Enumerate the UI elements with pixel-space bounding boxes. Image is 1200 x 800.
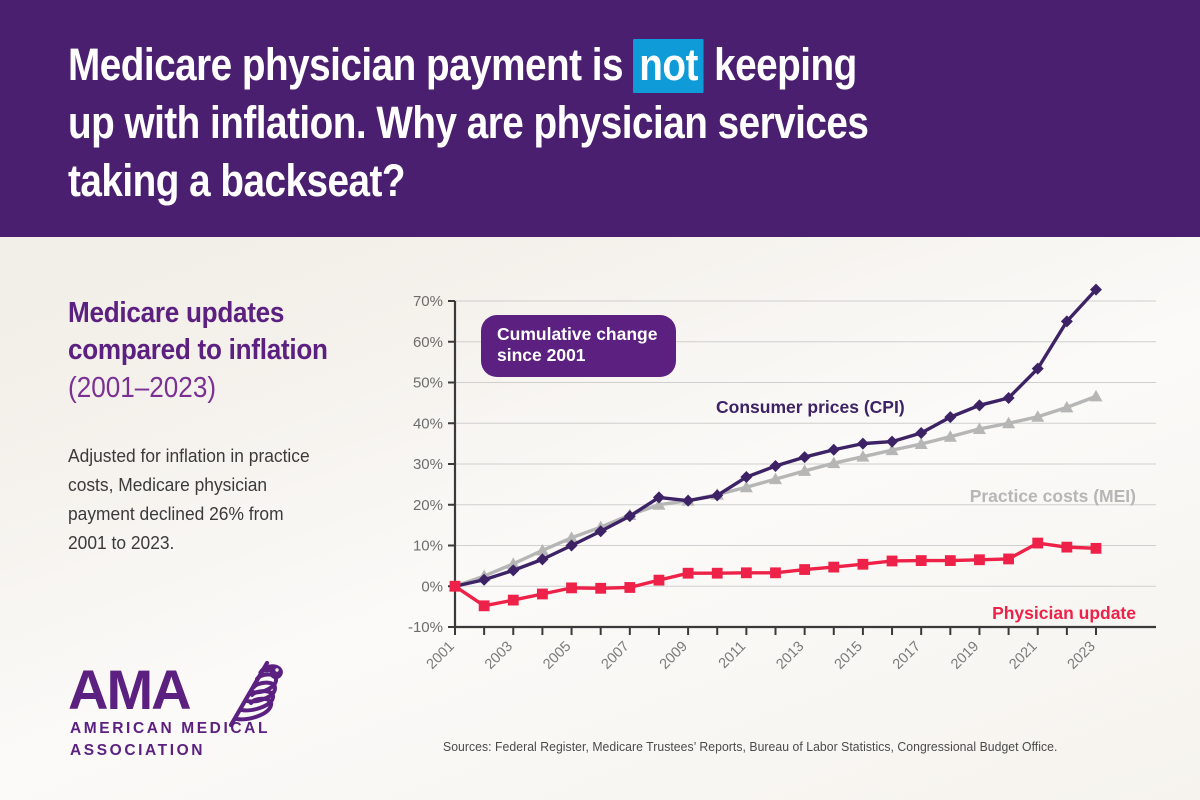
y-tick-label: 70% (413, 293, 443, 310)
series-label-physician-update: Physician update (992, 603, 1136, 623)
headline-line-1-post: keeping (704, 39, 857, 90)
x-tick-label: 2023 (1065, 639, 1099, 673)
data-point-marker (624, 582, 635, 593)
data-point-marker (537, 589, 548, 600)
chart-container: -10%0%10%20%30%40%50%60%70% 200120032005… (396, 270, 1186, 690)
left-column: Medicare updates compared to inflation (… (68, 295, 368, 557)
y-tick-label: 40% (413, 415, 443, 432)
data-point-marker (1090, 390, 1103, 401)
data-point-marker (712, 568, 723, 579)
line-chart: -10%0%10%20%30%40%50%60%70% 200120032005… (396, 270, 1186, 690)
data-point-marker (828, 562, 839, 573)
data-point-marker (508, 595, 519, 606)
y-tick-label: 50% (413, 375, 443, 392)
y-axis-ticks: -10%0%10%20%30%40%50%60%70% (408, 293, 455, 636)
y-tick-label: 0% (421, 578, 443, 595)
x-tick-label: 2003 (482, 639, 516, 673)
callout-badge: Cumulative change since 2001 (481, 315, 676, 377)
asclepius-staff-icon (211, 657, 291, 729)
callout-line-1: Cumulative change (497, 324, 658, 344)
data-point-marker (858, 559, 869, 570)
series-label-practice-costs-mei: Practice costs (MEI) (970, 486, 1136, 506)
chart-description: Adjusted for inflation in practice costs… (68, 441, 322, 557)
data-point-marker (799, 451, 811, 463)
data-point-marker (886, 436, 898, 448)
data-point-marker (595, 583, 606, 594)
ama-logo-line-2: ASSOCIATION (70, 742, 205, 760)
headline-line-2: up with inflation. Why are physician ser… (68, 94, 990, 152)
data-point-marker (654, 575, 665, 586)
x-tick-label: 2019 (948, 639, 982, 673)
x-tick-label: 2007 (599, 639, 633, 673)
data-point-marker (916, 555, 927, 566)
x-tick-label: 2001 (424, 639, 458, 673)
x-axis-ticks: 2001200320052007200920112013201520172019… (424, 627, 1099, 673)
x-tick-label: 2015 (832, 639, 866, 673)
data-point-marker (857, 438, 869, 450)
data-point-marker (566, 582, 577, 593)
x-tick-label: 2017 (890, 639, 924, 673)
header-band: Medicare physician payment is not keepin… (0, 0, 1200, 237)
x-tick-label: 2013 (773, 639, 807, 673)
chart-heading: Medicare updates compared to inflation (68, 295, 338, 369)
data-point-marker (973, 399, 985, 411)
data-point-marker (1003, 554, 1014, 565)
headline-line-1: Medicare physician payment is not keepin… (68, 36, 990, 94)
headline-highlight-not: not (633, 39, 704, 93)
headline-line-3: taking a backseat? (68, 152, 990, 210)
data-point-marker (974, 554, 985, 565)
ama-wordmark: AMA (68, 662, 190, 718)
data-point-marker (770, 567, 781, 578)
page-title: Medicare physician payment is not keepin… (68, 36, 990, 210)
data-point-marker (1032, 538, 1043, 549)
data-point-marker (887, 556, 898, 567)
x-tick-label: 2021 (1006, 639, 1040, 673)
data-point-marker (450, 581, 461, 592)
y-tick-label: 10% (413, 538, 443, 555)
y-tick-label: 60% (413, 334, 443, 351)
headline-line-1-pre: Medicare physician payment is (68, 39, 633, 90)
y-tick-label: 20% (413, 497, 443, 514)
data-point-marker (1091, 543, 1102, 554)
data-point-marker (479, 600, 490, 611)
y-tick-label: 30% (413, 456, 443, 473)
callout-line-2: since 2001 (497, 345, 586, 365)
data-point-marker (741, 567, 752, 578)
data-point-marker (770, 460, 782, 472)
x-tick-label: 2009 (657, 639, 691, 673)
infographic-poster: Medicare physician payment is not keepin… (0, 0, 1200, 800)
x-tick-label: 2005 (540, 639, 574, 673)
data-point-marker (799, 564, 810, 575)
series-label-consumer-prices-cpi: Consumer prices (CPI) (716, 397, 905, 417)
data-point-marker (1061, 542, 1072, 553)
ama-logo: AMA AMERICAN MEDICAL ASSOCIATION (68, 660, 298, 765)
data-point-marker (683, 568, 694, 579)
x-tick-label: 2011 (716, 639, 749, 672)
y-tick-label: -10% (408, 619, 443, 636)
sources-note: Sources: Federal Register, Medicare Trus… (443, 740, 1057, 754)
chart-heading-years: (2001–2023) (68, 370, 338, 407)
data-point-marker (828, 444, 840, 456)
data-point-marker (945, 555, 956, 566)
